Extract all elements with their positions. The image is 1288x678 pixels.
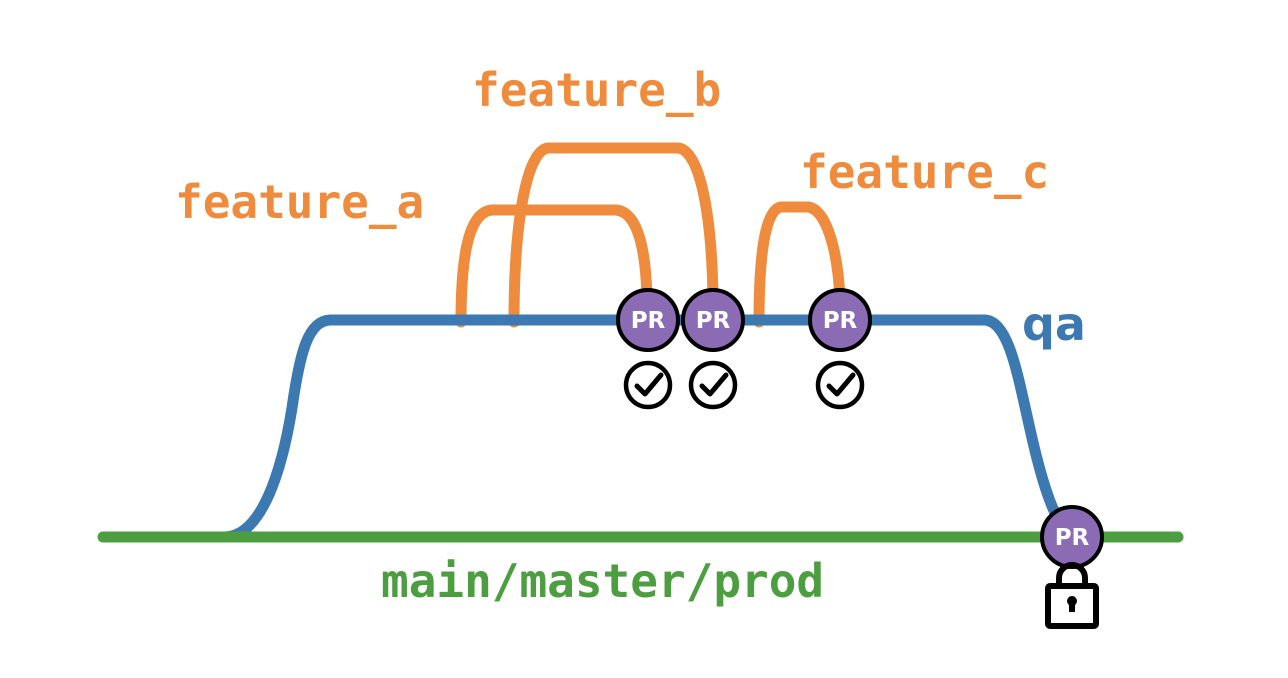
pr-node-label: PR: [1055, 525, 1090, 551]
check-circle-outline: [626, 363, 670, 407]
diagram-canvas: PR PR PR PR: [0, 0, 1288, 678]
pr-node-feature-a[interactable]: PR: [618, 290, 678, 350]
pr-node-label: PR: [696, 308, 731, 334]
pr-node-label: PR: [631, 308, 666, 334]
feature-b-branch-line: [514, 148, 713, 322]
check-circle-outline: [818, 363, 862, 407]
check-circle-icon-feature-a: [626, 363, 670, 407]
lock-icon: [1048, 565, 1096, 626]
branch-label-feature-c: feature_c: [800, 145, 1049, 199]
check-circle-icon-feature-c: [818, 363, 862, 407]
branch-label-main: main/master/prod: [381, 554, 824, 608]
feature-a-branch-line: [461, 210, 647, 322]
branch-label-feature-b: feature_b: [472, 63, 721, 117]
pr-node-feature-c[interactable]: PR: [810, 290, 870, 350]
check-circle-outline: [691, 363, 735, 407]
pr-node-qa-to-main[interactable]: PR: [1042, 507, 1102, 567]
git-flow-diagram: PR PR PR PR: [0, 0, 1288, 678]
qa-branch-line: [225, 320, 1068, 537]
qa-branch-group: [225, 320, 1068, 537]
pr-node-feature-b[interactable]: PR: [683, 290, 743, 350]
check-circle-icon-feature-b: [691, 363, 735, 407]
branch-label-qa: qa: [1022, 297, 1086, 351]
pr-node-label: PR: [823, 308, 858, 334]
branch-label-feature-a: feature_a: [175, 175, 424, 229]
lock-keyhole-stem: [1069, 601, 1075, 612]
